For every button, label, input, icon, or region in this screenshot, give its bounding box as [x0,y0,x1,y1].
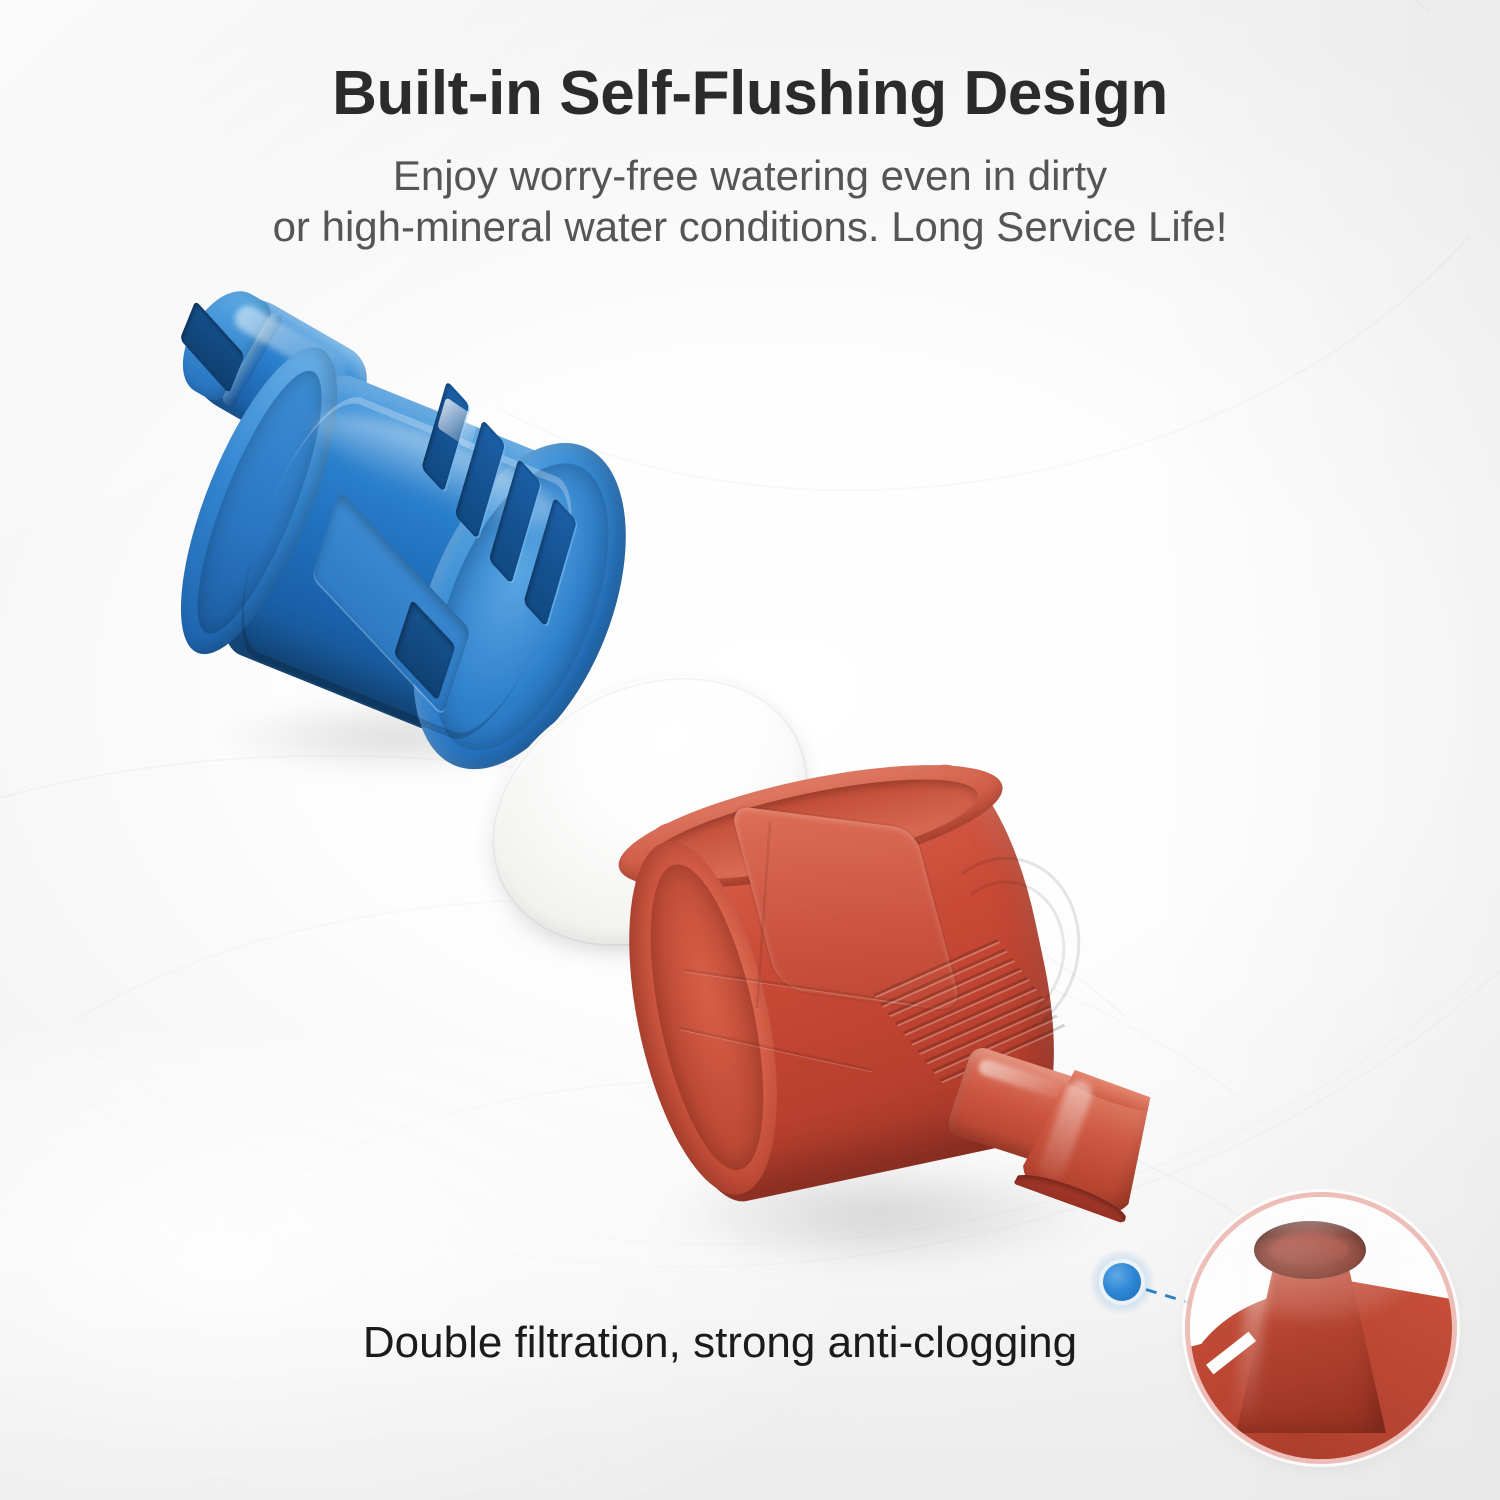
marker-dot [1103,1263,1141,1301]
infographic-canvas: Built-in Self-Flushing Design Enjoy worr… [0,0,1500,1500]
filter-slot-tooth [523,497,576,627]
red-emitter-body [625,760,1195,1320]
subtitle-line-2: or high-mineral water conditions. Long S… [0,203,1500,251]
feature-caption: Double filtration, strong anti-clogging [0,1318,1440,1368]
subtitle-line-1: Enjoy worry-free watering even in dirty [0,152,1500,200]
page-title: Built-in Self-Flushing Design [0,58,1500,129]
magnifier-glare [1208,1209,1418,1319]
red-body-drum [588,726,1117,1231]
blue-dot-marker[interactable] [1090,1250,1154,1314]
